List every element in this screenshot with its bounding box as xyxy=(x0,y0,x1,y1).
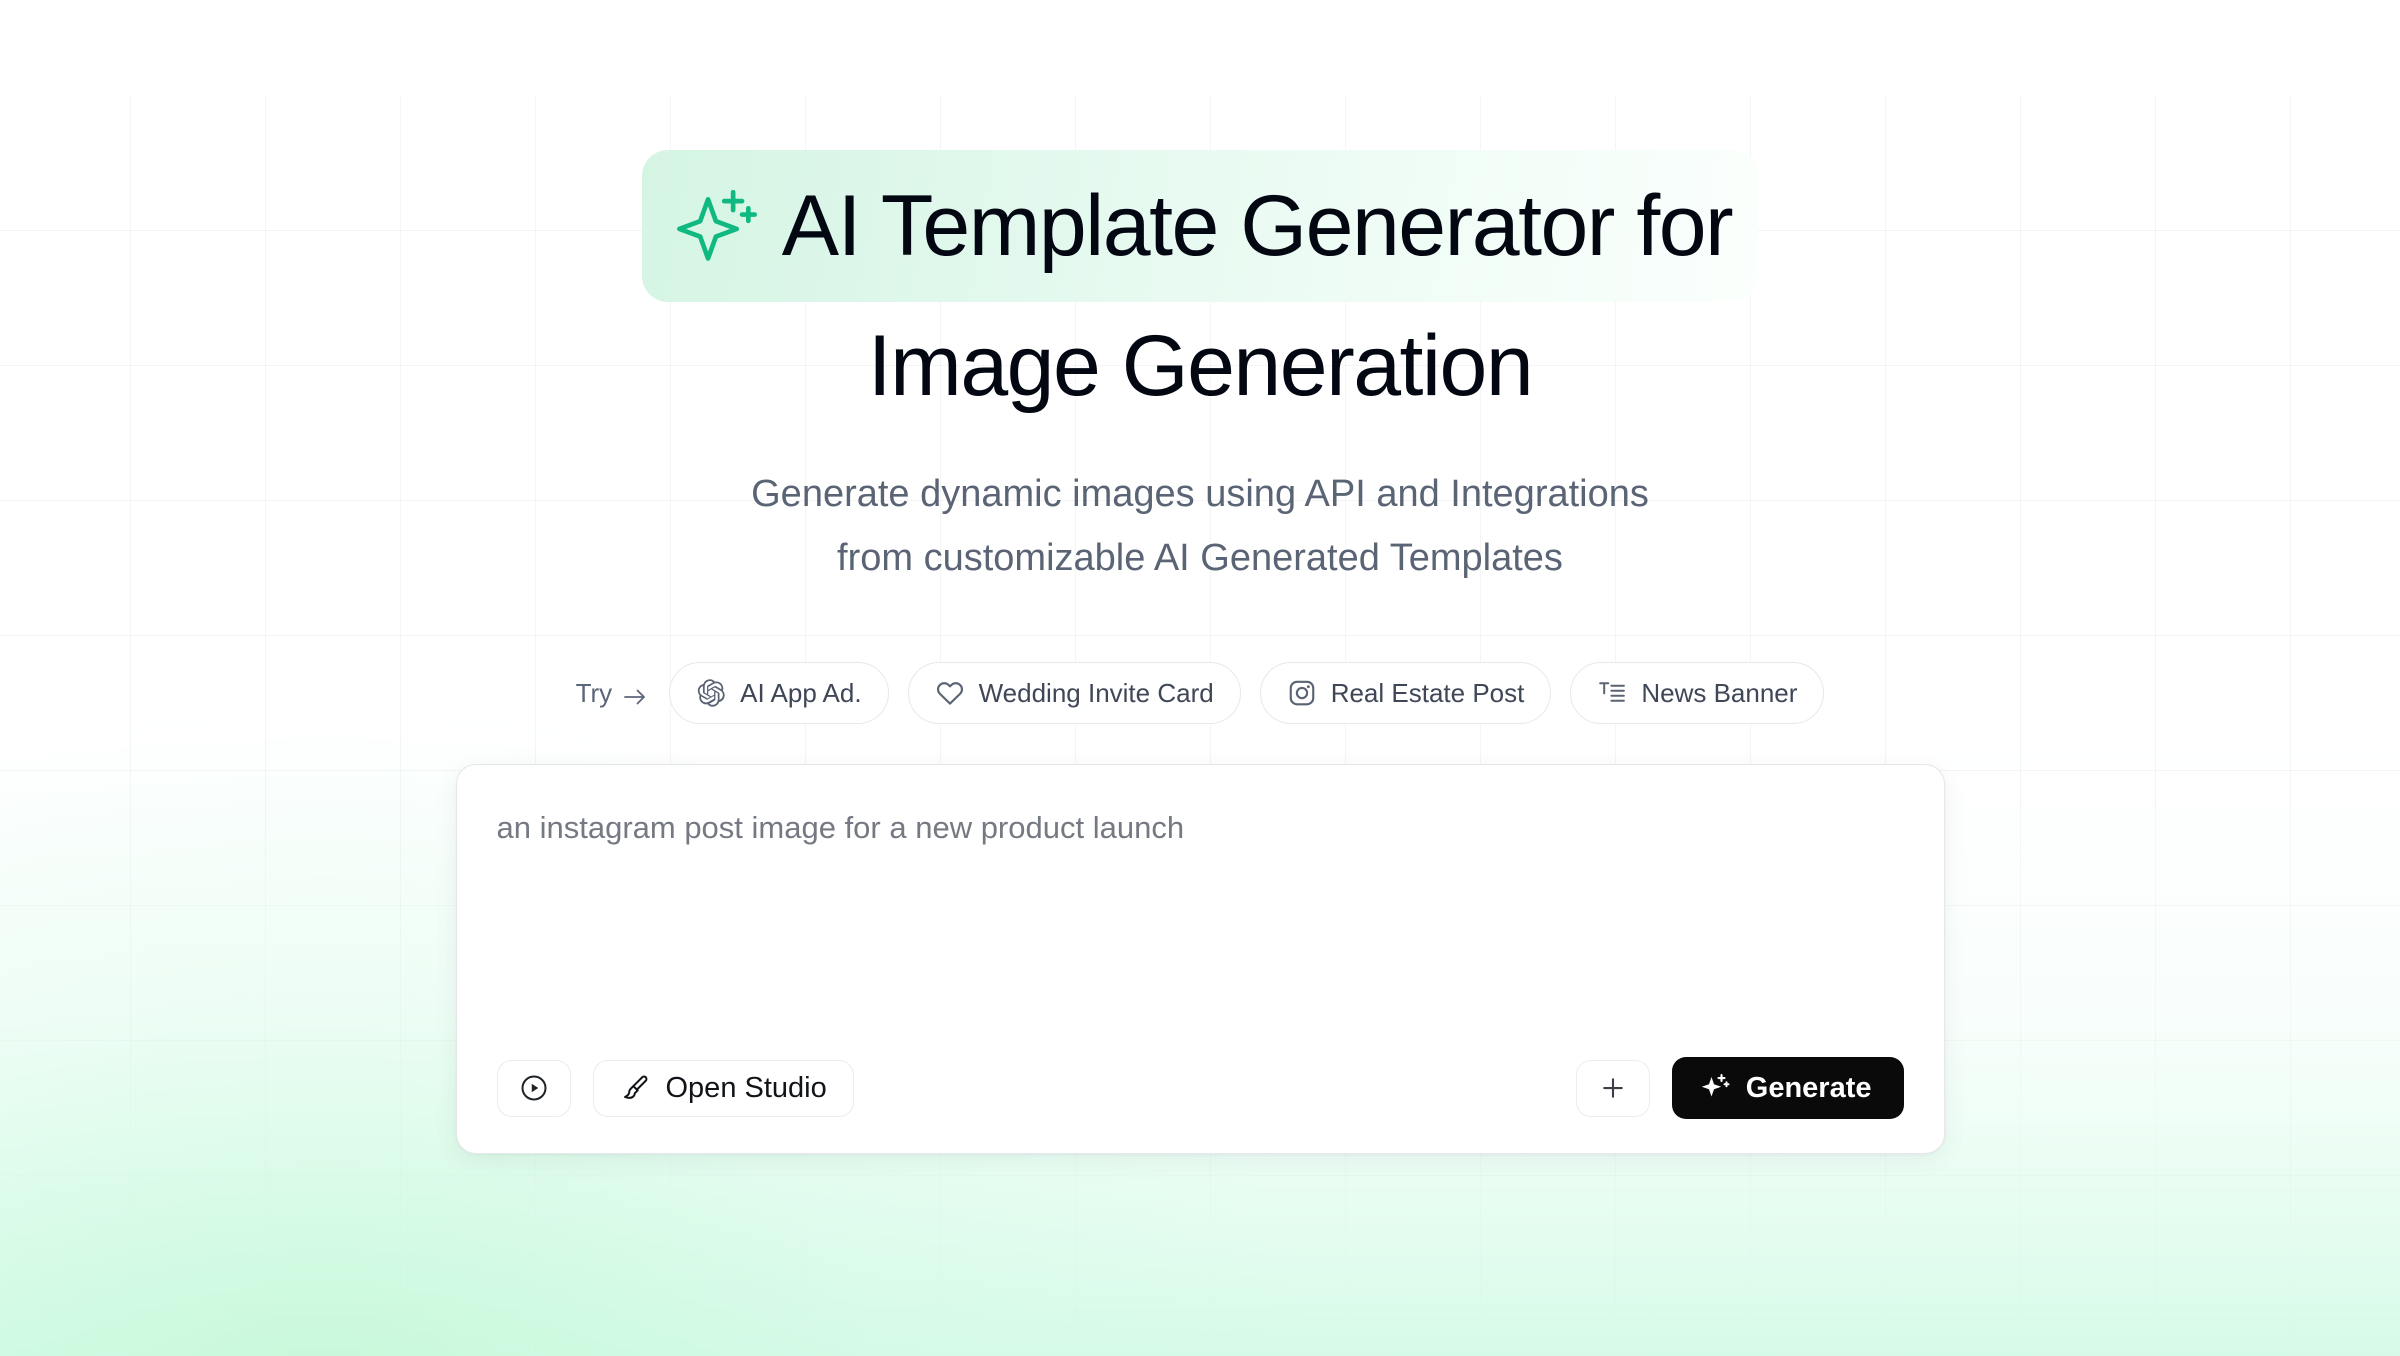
sparkle-icon xyxy=(674,180,760,266)
prompt-input[interactable]: an instagram post image for a new produc… xyxy=(497,807,1904,1057)
chip-label: Real Estate Post xyxy=(1331,678,1525,709)
open-studio-button[interactable]: Open Studio xyxy=(593,1060,854,1117)
instagram-icon xyxy=(1287,678,1317,708)
heart-icon xyxy=(935,678,965,708)
hero-section: AI Template Generator for Image Generati… xyxy=(0,0,2400,1356)
toolbar-left-group: Open Studio xyxy=(497,1060,854,1117)
generate-button[interactable]: Generate xyxy=(1672,1057,1904,1119)
prompt-toolbar: Open Studio xyxy=(497,1057,1904,1119)
subtitle-line-2: from customizable AI Generated Templates xyxy=(751,526,1649,590)
plus-icon xyxy=(1598,1073,1628,1103)
paintbrush-icon xyxy=(620,1073,650,1103)
openai-logo-icon xyxy=(696,678,726,708)
try-label: Try xyxy=(576,678,651,709)
title-first-line: AI Template Generator for xyxy=(642,150,1758,302)
sparkle-filled-icon xyxy=(1700,1073,1730,1103)
prompt-card: an instagram post image for a new produc… xyxy=(456,764,1945,1154)
title-text-line-2: Image Generation xyxy=(350,304,2050,428)
suggestion-chips-row: Try AI App Ad. Wedding Invite Card xyxy=(576,662,1825,724)
title-text-line-1: AI Template Generator for xyxy=(782,164,1732,288)
arrow-right-icon xyxy=(622,683,648,703)
open-studio-label: Open Studio xyxy=(666,1072,827,1105)
chip-real-estate-post[interactable]: Real Estate Post xyxy=(1260,662,1552,724)
generate-label: Generate xyxy=(1746,1072,1872,1105)
chip-wedding-invite-card[interactable]: Wedding Invite Card xyxy=(908,662,1241,724)
chip-ai-app-ad[interactable]: AI App Ad. xyxy=(669,662,888,724)
text-lines-icon xyxy=(1597,678,1627,708)
page-title: AI Template Generator for Image Generati… xyxy=(350,150,2050,428)
play-circle-icon xyxy=(519,1073,549,1103)
toolbar-right-group: Generate xyxy=(1576,1057,1904,1119)
add-attachment-button[interactable] xyxy=(1576,1060,1650,1117)
chip-news-banner[interactable]: News Banner xyxy=(1570,662,1824,724)
try-label-text: Try xyxy=(576,678,613,709)
chip-label: AI App Ad. xyxy=(740,678,861,709)
play-button[interactable] xyxy=(497,1060,571,1117)
page-subtitle: Generate dynamic images using API and In… xyxy=(751,462,1649,590)
chip-label: Wedding Invite Card xyxy=(979,678,1214,709)
subtitle-line-1: Generate dynamic images using API and In… xyxy=(751,462,1649,526)
chip-label: News Banner xyxy=(1641,678,1797,709)
